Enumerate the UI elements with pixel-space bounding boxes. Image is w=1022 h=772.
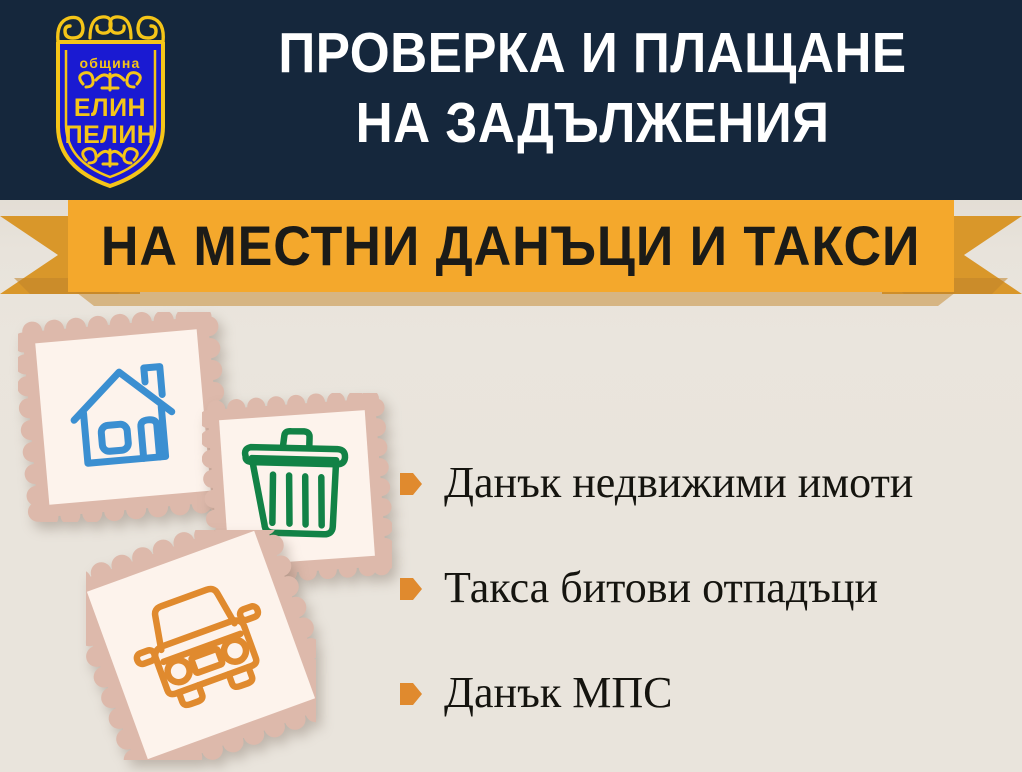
list-item-label: Такса битови отпадъци — [444, 563, 878, 613]
list-item[interactable]: Данък недвижими имоти — [400, 430, 1010, 535]
pentagon-arrow-icon — [400, 471, 422, 497]
property-stamp — [18, 312, 228, 522]
ribbon-shadow — [76, 292, 956, 306]
ribbon-label: НА МЕСТНИ ДАНЪЦИ И ТАКСИ — [101, 218, 921, 274]
header-bar: община ЕЛИН ПЕЛИН — [0, 0, 1022, 200]
vehicle-stamp — [86, 530, 316, 760]
page-title: ПРОВЕРКА И ПЛАЩАНЕ НА ЗАДЪЛЖЕНИЯ — [217, 18, 969, 158]
municipality-logo: община ЕЛИН ПЕЛИН — [38, 8, 183, 190]
list-item-label: Данък МПС — [444, 668, 672, 718]
list-item[interactable]: Данък МПС — [400, 640, 1010, 745]
pentagon-arrow-icon — [400, 681, 422, 707]
list-item-label: Данък недвижими имоти — [444, 458, 913, 508]
pentagon-arrow-icon — [400, 576, 422, 602]
service-list: Данък недвижими имоти Такса битови отпад… — [400, 430, 1010, 745]
svg-text:ЕЛИН: ЕЛИН — [74, 94, 146, 122]
ribbon-banner: НА МЕСТНИ ДАНЪЦИ И ТАКСИ — [0, 200, 1022, 310]
svg-text:община: община — [79, 55, 140, 71]
list-item[interactable]: Такса битови отпадъци — [400, 535, 1010, 640]
poster-canvas: община ЕЛИН ПЕЛИН — [0, 0, 1022, 772]
ribbon-band: НА МЕСТНИ ДАНЪЦИ И ТАКСИ — [68, 200, 954, 292]
svg-text:ПЕЛИН: ПЕЛИН — [65, 121, 156, 149]
